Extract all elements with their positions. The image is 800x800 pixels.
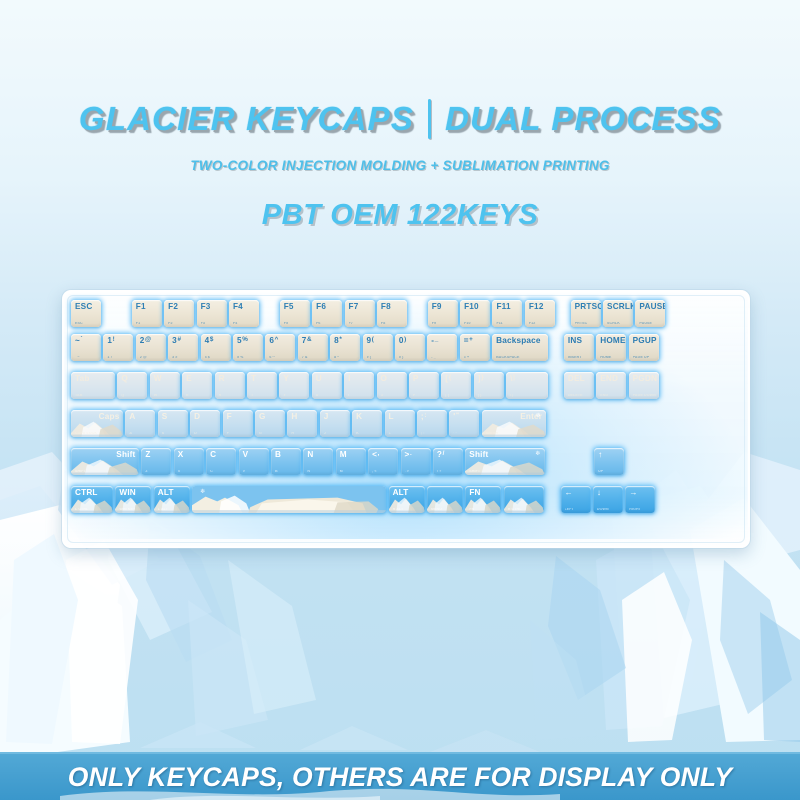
key-key-v[interactable]: VV — [239, 448, 269, 475]
key-shift-left[interactable]: ShiftSHIFT — [71, 448, 139, 475]
key-spacer — [550, 334, 561, 361]
keycap-shifted-legend: ) — [404, 337, 406, 343]
key-spacer — [550, 372, 561, 399]
keycap-legend-group: =+ — [464, 337, 487, 345]
key-slash[interactable]: ?// ? — [433, 448, 463, 475]
keycap-legend-group: ↓ — [597, 489, 620, 497]
key-alt-right[interactable]: ALTR ALT — [389, 486, 425, 513]
keycap-legend-group: → — [629, 489, 652, 497]
keycap-legend: ? — [437, 451, 442, 459]
keycap-legend-group: F12 — [529, 303, 552, 311]
key-home[interactable]: HOMEHOME — [596, 334, 626, 361]
keycap-shifted-legend: } — [481, 375, 483, 381]
keycap-sublegend: M — [340, 470, 363, 474]
key-key-j[interactable]: JJ — [320, 410, 350, 437]
keycap-sublegend: E — [186, 394, 209, 398]
key-f10[interactable]: F10F10 — [460, 300, 490, 327]
keycap-sublegend: F3 — [201, 322, 224, 326]
keycap-legend: F4 — [233, 303, 243, 311]
keycap-sublegend: 8 * — [334, 356, 357, 360]
key-f7[interactable]: F7F7 — [345, 300, 375, 327]
keycap-legend-group: L — [389, 413, 412, 421]
keycap-legend: Z — [145, 451, 150, 459]
keyboard-row-home-row: CapsCAPS LOCKAASSDDFFGGHHJJKKLL;:; :'"' … — [71, 410, 548, 437]
keycap-sublegend: N — [307, 470, 330, 474]
key-f4[interactable]: F4F4 — [229, 300, 259, 327]
keycap-legend-group: PGDN — [633, 375, 656, 383]
keycap-legend-group: >. — [405, 451, 428, 459]
keycap-legend-group: T — [251, 375, 274, 383]
key-period[interactable]: >.. > — [401, 448, 431, 475]
key-f8[interactable]: F8F8 — [377, 300, 407, 327]
keycap-legend-group: Z — [145, 451, 168, 459]
keycap-legend-group: 7& — [302, 337, 325, 345]
key-key-q[interactable]: QQ — [117, 372, 147, 399]
key-shift-right[interactable]: Shift❄SHIFT — [465, 448, 545, 475]
keyboard: ESCESCF1F1F2F2F3F3F4F4F5F5F6F6F7F7F8F8F9… — [62, 290, 750, 548]
keycap-legend: F7 — [349, 303, 359, 311]
key-key-n[interactable]: NN — [303, 448, 333, 475]
keycap-sublegend: DELETE — [568, 394, 591, 398]
keycap-sublegend: X — [178, 470, 201, 474]
keycap-legend-group: 5% — [237, 337, 260, 345]
keycap-sublegend: W — [154, 394, 177, 398]
keycap-legend-group: ~` — [75, 337, 98, 345]
keycap-sublegend: / ? — [437, 470, 460, 474]
keycap-shifted-legend: # — [177, 337, 181, 343]
keycap-legend-group: ← — [565, 489, 588, 497]
key-key-y[interactable]: YY — [279, 372, 309, 399]
key-capslock[interactable]: CapsCAPS LOCK — [71, 410, 123, 437]
key-ctrl-right[interactable]: R CTRL — [504, 486, 544, 513]
keycap-legend-group: 9( — [367, 337, 390, 345]
keycap-sublegend: ; : — [421, 432, 444, 436]
subtitle: TWO-COLOR INJECTION MOLDING + SUBLIMATIO… — [0, 158, 800, 173]
keycap-sublegend: G — [259, 432, 282, 436]
keycap-sublegend: FN — [469, 508, 498, 512]
keycap-legend-group: F — [227, 413, 250, 421]
keycap-sublegend: PAGE DOWN — [633, 394, 656, 398]
keycap-legend: O — [381, 375, 388, 383]
keycap-legend-group: F7 — [349, 303, 372, 311]
keycap-iceberg-art — [192, 486, 386, 513]
key-pgdn[interactable]: PGDNPAGE DOWN — [629, 372, 659, 399]
key-pgup[interactable]: PGUPPAGE UP — [629, 334, 659, 361]
key-tab[interactable]: TabTAB — [71, 372, 115, 399]
keycap-legend-group: 3# — [172, 337, 195, 345]
keycap-sublegend: SHIFT — [469, 470, 542, 474]
keycap-sublegend: 4 $ — [205, 356, 228, 360]
keycap-legend-group: X — [178, 451, 201, 459]
keycap-sublegend: SCRLK — [607, 322, 630, 326]
keycap-legend: 7 — [302, 337, 307, 345]
keycap-shifted-legend: | — [513, 375, 515, 381]
keycap-shifted-legend: . — [410, 451, 412, 457]
key-comma[interactable]: <,, < — [368, 448, 398, 475]
key-f6[interactable]: F6F6 — [312, 300, 342, 327]
key-digit-8[interactable]: 8*8 * — [330, 334, 360, 361]
keycap-legend-group: F5 — [284, 303, 307, 311]
title-divider — [428, 99, 431, 139]
keycap-legend-group: N — [307, 451, 330, 459]
keycap-sublegend: HOME — [600, 356, 623, 360]
keycap-legend-group: Shift — [469, 451, 542, 459]
key-key-u[interactable]: UU — [312, 372, 342, 399]
keycap-sublegend: F2 — [168, 322, 191, 326]
keycap-legend-group: Tab — [75, 375, 112, 383]
key-backspace[interactable]: BackspaceBACKSPACE — [492, 334, 548, 361]
keycap-legend-group: B — [275, 451, 298, 459]
keycap-legend: F2 — [168, 303, 178, 311]
keycap-legend: F12 — [529, 303, 544, 311]
keycap-legend: > — [405, 451, 410, 459]
key-pause[interactable]: PAUSEPAUSE — [635, 300, 665, 327]
key-enter[interactable]: Enter❄ENTER — [482, 410, 546, 437]
keycap-legend: F6 — [316, 303, 326, 311]
keycap-sublegend: = + — [464, 356, 487, 360]
keycap-legend: PGDN — [633, 375, 657, 383]
keycap-sublegend: 9 ( — [367, 356, 390, 360]
keycap-legend-group: ALT — [393, 489, 422, 497]
key-digit-0[interactable]: 0)0 ) — [395, 334, 425, 361]
key-digit-1[interactable]: 1!1 ! — [103, 334, 133, 361]
keycap-legend: N — [307, 451, 313, 459]
key-insert[interactable]: INSINSERT — [564, 334, 594, 361]
key-win-left[interactable]: WINWIN KEY — [115, 486, 151, 513]
keycap-legend: F5 — [284, 303, 294, 311]
tagline: PBT OEM 122KEYS — [0, 199, 800, 232]
key-key-t[interactable]: TT — [247, 372, 277, 399]
key-quote[interactable]: '"' " — [449, 410, 479, 437]
keycap-sublegend: 6 ^ — [269, 356, 292, 360]
keycap-sublegend: Z — [145, 470, 168, 474]
keycap-sublegend: P — [413, 394, 436, 398]
key-digit-9[interactable]: 9(9 ( — [363, 334, 393, 361]
key-key-x[interactable]: XX — [174, 448, 204, 475]
keycap-legend: A — [129, 413, 135, 421]
keycap-legend: ← — [565, 489, 573, 497]
disclaimer-text: ONLY KEYCAPS, OTHERS ARE FOR DISPLAY ONL… — [68, 762, 732, 793]
keycap-legend: Shift — [116, 451, 135, 459]
keycap-sublegend: F10 — [464, 322, 487, 326]
keycap-legend: → — [629, 489, 637, 497]
key-key-m[interactable]: MM — [336, 448, 366, 475]
main-title: GLACIER KEYCAPS DUAL PROCESS — [0, 96, 800, 142]
keycap-legend-group: SCRLK — [607, 303, 630, 311]
key-space[interactable]: ❄ — [192, 486, 386, 513]
keycap-legend: X — [178, 451, 184, 459]
key-key-i[interactable]: II — [344, 372, 374, 399]
key-bracket-l[interactable]: [{[ { — [441, 372, 471, 399]
keycap-legend-group: M — [340, 451, 363, 459]
key-key-g[interactable]: GG — [255, 410, 285, 437]
keycap-legend: E — [186, 375, 192, 383]
keycap-sublegend: 3 # — [172, 356, 195, 360]
key-f11[interactable]: F11F11 — [492, 300, 522, 327]
keycap-legend: G — [259, 413, 266, 421]
keycap-legend-group: H — [291, 413, 314, 421]
key-digit-7[interactable]: 7&7 & — [298, 334, 328, 361]
keycap-legend: B — [275, 451, 281, 459]
keycap-sublegend: \ | — [510, 394, 545, 398]
key-ctrl-left[interactable]: CTRLL CTRL — [71, 486, 113, 513]
key-key-s[interactable]: SS — [158, 410, 188, 437]
key-end[interactable]: ENDEND — [596, 372, 626, 399]
keycap-sublegend: SHIFT — [75, 470, 136, 474]
key-digit-4[interactable]: 4$4 $ — [201, 334, 231, 361]
keycap-shifted-legend: : — [424, 413, 426, 419]
keycap-legend-group: ;: — [421, 413, 444, 421]
keycap-sublegend: 0 ) — [399, 356, 422, 360]
keycap-legend: P — [413, 375, 419, 383]
keycap-legend-group: F10 — [464, 303, 487, 311]
keycap-legend-group: PGUP — [633, 337, 656, 345]
keycap-sublegend: F1 — [136, 322, 159, 326]
key-equal[interactable]: =+= + — [460, 334, 490, 361]
key-digit-5[interactable]: 5%5 % — [233, 334, 263, 361]
keycap-legend: INS — [568, 337, 582, 345]
key-key-a[interactable]: AA — [125, 410, 155, 437]
keycap-legend-group: A — [129, 413, 152, 421]
keycap-sublegend: Y — [283, 394, 306, 398]
keycap-legend: CTRL — [75, 489, 98, 497]
keycap-sublegend: F7 — [349, 322, 372, 326]
key-key-w[interactable]: WW — [150, 372, 180, 399]
keycap-sublegend: CAPS LOCK — [75, 432, 120, 436]
key-key-k[interactable]: KK — [352, 410, 382, 437]
keycap-legend: END — [600, 375, 618, 383]
key-alt-left[interactable]: ALTL ALT — [154, 486, 190, 513]
keycap-legend-group: V — [243, 451, 266, 459]
keycap-legend-group: F4 — [233, 303, 256, 311]
key-digit-3[interactable]: 3#3 # — [168, 334, 198, 361]
keycap-legend: U — [316, 375, 322, 383]
keycap-legend: 2 — [140, 337, 145, 345]
keycap-sublegend: F11 — [496, 322, 519, 326]
keycap-legend-group: F1 — [136, 303, 159, 311]
keycap-legend-group: R — [219, 375, 242, 383]
keycap-sublegend: L ALT — [158, 508, 187, 512]
keycap-legend: Q — [121, 375, 128, 383]
keycap-legend-group: F6 — [316, 303, 339, 311]
keycap-shifted-legend: " — [456, 413, 459, 419]
keycap-legend-group: 8* — [334, 337, 357, 345]
keycap-sublegend: PAUSE — [639, 322, 662, 326]
keycap-legend-group: \| — [510, 375, 545, 383]
key-arrow-right[interactable]: →RIGHT — [625, 486, 655, 513]
keycap-legend: Tab — [75, 375, 90, 383]
keycap-shifted-legend: ! — [113, 337, 115, 343]
keycap-sublegend: F4 — [233, 322, 256, 326]
keycap-sublegend: , < — [372, 470, 395, 474]
keycap-legend-group: K — [356, 413, 379, 421]
keycap-legend: ↑ — [598, 451, 602, 459]
keycap-legend: F1 — [136, 303, 146, 311]
keycap-legend: L — [389, 413, 394, 421]
keycap-sublegend: 5 % — [237, 356, 260, 360]
keycap-legend-group: G — [259, 413, 282, 421]
key-semicolon[interactable]: ;:; : — [417, 410, 447, 437]
key-f1[interactable]: F1F1 — [132, 300, 162, 327]
keycap-legend-group: 1! — [107, 337, 130, 345]
key-spacer — [261, 300, 277, 327]
key-f5[interactable]: F5F5 — [280, 300, 310, 327]
keyboard-row-shift-row: ShiftSHIFTZZXXCCVVBBNNMM<,, <>.. >?// ? … — [71, 448, 626, 475]
keycap-sublegend: R — [219, 394, 242, 398]
keycap-sublegend: F5 — [284, 322, 307, 326]
keycap-sublegend: H — [291, 432, 314, 436]
keycap-legend-group: F8 — [381, 303, 404, 311]
keycap-legend-group: 2@ — [140, 337, 163, 345]
key-key-c[interactable]: CC — [206, 448, 236, 475]
keycap-legend-group: HOME — [600, 337, 623, 345]
keycap-legend-group: S — [162, 413, 185, 421]
keycap-sublegend: Q — [121, 394, 144, 398]
key-fn[interactable]: FNFN — [465, 486, 501, 513]
keycap-sublegend: ' " — [453, 432, 476, 436]
keycap-sublegend: A — [129, 432, 152, 436]
keycap-sublegend: END — [600, 394, 623, 398]
keycap-sublegend: V — [243, 470, 266, 474]
keycap-legend-group: F2 — [168, 303, 191, 311]
keycap-sublegend: PRTSC — [575, 322, 598, 326]
keycap-shifted-legend: _ — [435, 337, 439, 343]
key-key-d[interactable]: DD — [190, 410, 220, 437]
keycap-sublegend: B — [275, 470, 298, 474]
keycap-sublegend: ] } — [478, 394, 501, 398]
keycap-sublegend: C — [210, 470, 233, 474]
keycap-sublegend: 7 & — [302, 356, 325, 360]
keycap-legend-group: Enter — [486, 413, 543, 421]
keycap-sublegend: F — [227, 432, 250, 436]
keycap-sublegend: J — [324, 432, 347, 436]
keyboard-row-function-row: ESCESCF1F1F2F2F3F3F4F4F5F5F6F6F7F7F8F8F9… — [71, 300, 668, 327]
keycap-legend-group: P — [413, 375, 436, 383]
key-scrlk[interactable]: SCRLKSCRLK — [603, 300, 633, 327]
keycap-legend: DEL — [568, 375, 585, 383]
keycap-sublegend: UP — [598, 470, 621, 474]
keycap-sublegend: F9 — [432, 322, 455, 326]
key-spacer — [546, 486, 558, 513]
key-key-z[interactable]: ZZ — [141, 448, 171, 475]
keycap-legend-group: ESC — [75, 303, 98, 311]
key-digit-6[interactable]: 6^6 ^ — [265, 334, 295, 361]
key-digit-2[interactable]: 2@2 @ — [136, 334, 166, 361]
keycap-sublegend: WIN KEY — [119, 508, 148, 512]
title-left: GLACIER KEYCAPS — [79, 100, 414, 138]
keycap-legend: ~ — [75, 337, 80, 345]
key-key-r[interactable]: RR — [215, 372, 245, 399]
key-spacer — [409, 300, 425, 327]
key-key-o[interactable]: OO — [377, 372, 407, 399]
keycap-legend-group: Backspace — [496, 337, 545, 345]
keycap-legend-group: [{ — [445, 375, 468, 383]
keycap-legend: T — [251, 375, 256, 383]
keycap-sublegend: ENTER — [486, 432, 543, 436]
keycap-legend-group: FN — [469, 489, 498, 497]
keycap-shifted-legend: & — [307, 337, 312, 343]
keycap-sublegend: K — [356, 432, 379, 436]
keycap-legend: S — [162, 413, 168, 421]
keycap-legend-group: PRTSC — [575, 303, 598, 311]
key-spacer — [557, 300, 568, 327]
keycap-sublegend: O — [381, 394, 404, 398]
keycap-legend: Caps — [99, 413, 120, 421]
keyboard-row-number-row: ~`` ~1!1 !2@2 @3#3 #4$4 $5%5 %6^6 ^7&7 &… — [71, 334, 661, 361]
keycap-legend-group: F11 — [496, 303, 519, 311]
keycap-legend-group: DEL — [568, 375, 591, 383]
keycap-legend: F10 — [464, 303, 479, 311]
keycap-legend-group: ALT — [158, 489, 187, 497]
key-f12[interactable]: F12F12 — [525, 300, 555, 327]
keycap-legend-group: C — [210, 451, 233, 459]
header: GLACIER KEYCAPS DUAL PROCESS TWO-COLOR I… — [0, 96, 800, 232]
key-spacer — [103, 300, 129, 327]
keycap-legend: K — [356, 413, 362, 421]
key-f9[interactable]: F9F9 — [428, 300, 458, 327]
key-arrow-down[interactable]: ↓DOWN — [593, 486, 623, 513]
keycap-sublegend: BACKSPACE — [496, 356, 545, 360]
key-tilde[interactable]: ~`` ~ — [71, 334, 101, 361]
key-key-f[interactable]: FF — [223, 410, 253, 437]
key-key-p[interactable]: PP — [409, 372, 439, 399]
keycap-sublegend: F6 — [316, 322, 339, 326]
keycap-sublegend: ` ~ — [75, 356, 98, 360]
key-key-l[interactable]: LL — [385, 410, 415, 437]
keycap-legend-group: Y — [283, 375, 306, 383]
keycap-legend: F — [227, 413, 232, 421]
key-key-h[interactable]: HH — [287, 410, 317, 437]
keycap-legend-group: CTRL — [75, 489, 110, 497]
keycap-legend-group: W — [154, 375, 177, 383]
keycap-sublegend: INSERT — [568, 356, 591, 360]
key-esc[interactable]: ESCESC — [71, 300, 101, 327]
keycap-legend: 1 — [107, 337, 112, 345]
key-arrow-left[interactable]: ←LEFT — [561, 486, 591, 513]
key-key-e[interactable]: EE — [182, 372, 212, 399]
keycap-sublegend: [ { — [445, 394, 468, 398]
keycap-legend-group: ?/ — [437, 451, 460, 459]
keycap-legend-group: J — [324, 413, 347, 421]
key-arrow-up[interactable]: ↑UP — [594, 448, 624, 475]
key-bracket-r[interactable]: ]}] } — [474, 372, 504, 399]
keycap-sublegend: - _ — [431, 356, 454, 360]
keycap-sublegend: I — [348, 394, 371, 398]
keyboard-row-qwerty-row: TabTABQQWWEERRTTYYUUIIOOPP[{[ {]}] }\|\ … — [71, 372, 661, 399]
key-prtsc[interactable]: PRTSCPRTSC — [571, 300, 601, 327]
keycap-sublegend: R CTRL — [508, 508, 541, 512]
keycap-legend: < — [372, 451, 377, 459]
keycap-legend-group: 0) — [399, 337, 422, 345]
key-backslash[interactable]: \|\ | — [506, 372, 548, 399]
keycap-legend: PAUSE — [639, 303, 665, 311]
keycap-sublegend: MENU — [431, 508, 460, 512]
key-delete[interactable]: DELDELETE — [564, 372, 594, 399]
keycap-legend: FN — [469, 489, 480, 497]
keycap-legend: 6 — [269, 337, 274, 345]
keycap-legend: F9 — [432, 303, 442, 311]
key-key-b[interactable]: BB — [271, 448, 301, 475]
snowflake-icon: ❄ — [535, 451, 540, 457]
keycap-sublegend: TAB — [75, 394, 112, 398]
key-f3[interactable]: F3F3 — [197, 300, 227, 327]
keycap-legend: R — [219, 375, 225, 383]
key-menu[interactable]: MENU — [427, 486, 463, 513]
keycap-legend-group: Shift — [75, 451, 136, 459]
key-f2[interactable]: F2F2 — [164, 300, 194, 327]
key-minus[interactable]: -_- _ — [427, 334, 457, 361]
keycap-sublegend: F8 — [381, 322, 404, 326]
